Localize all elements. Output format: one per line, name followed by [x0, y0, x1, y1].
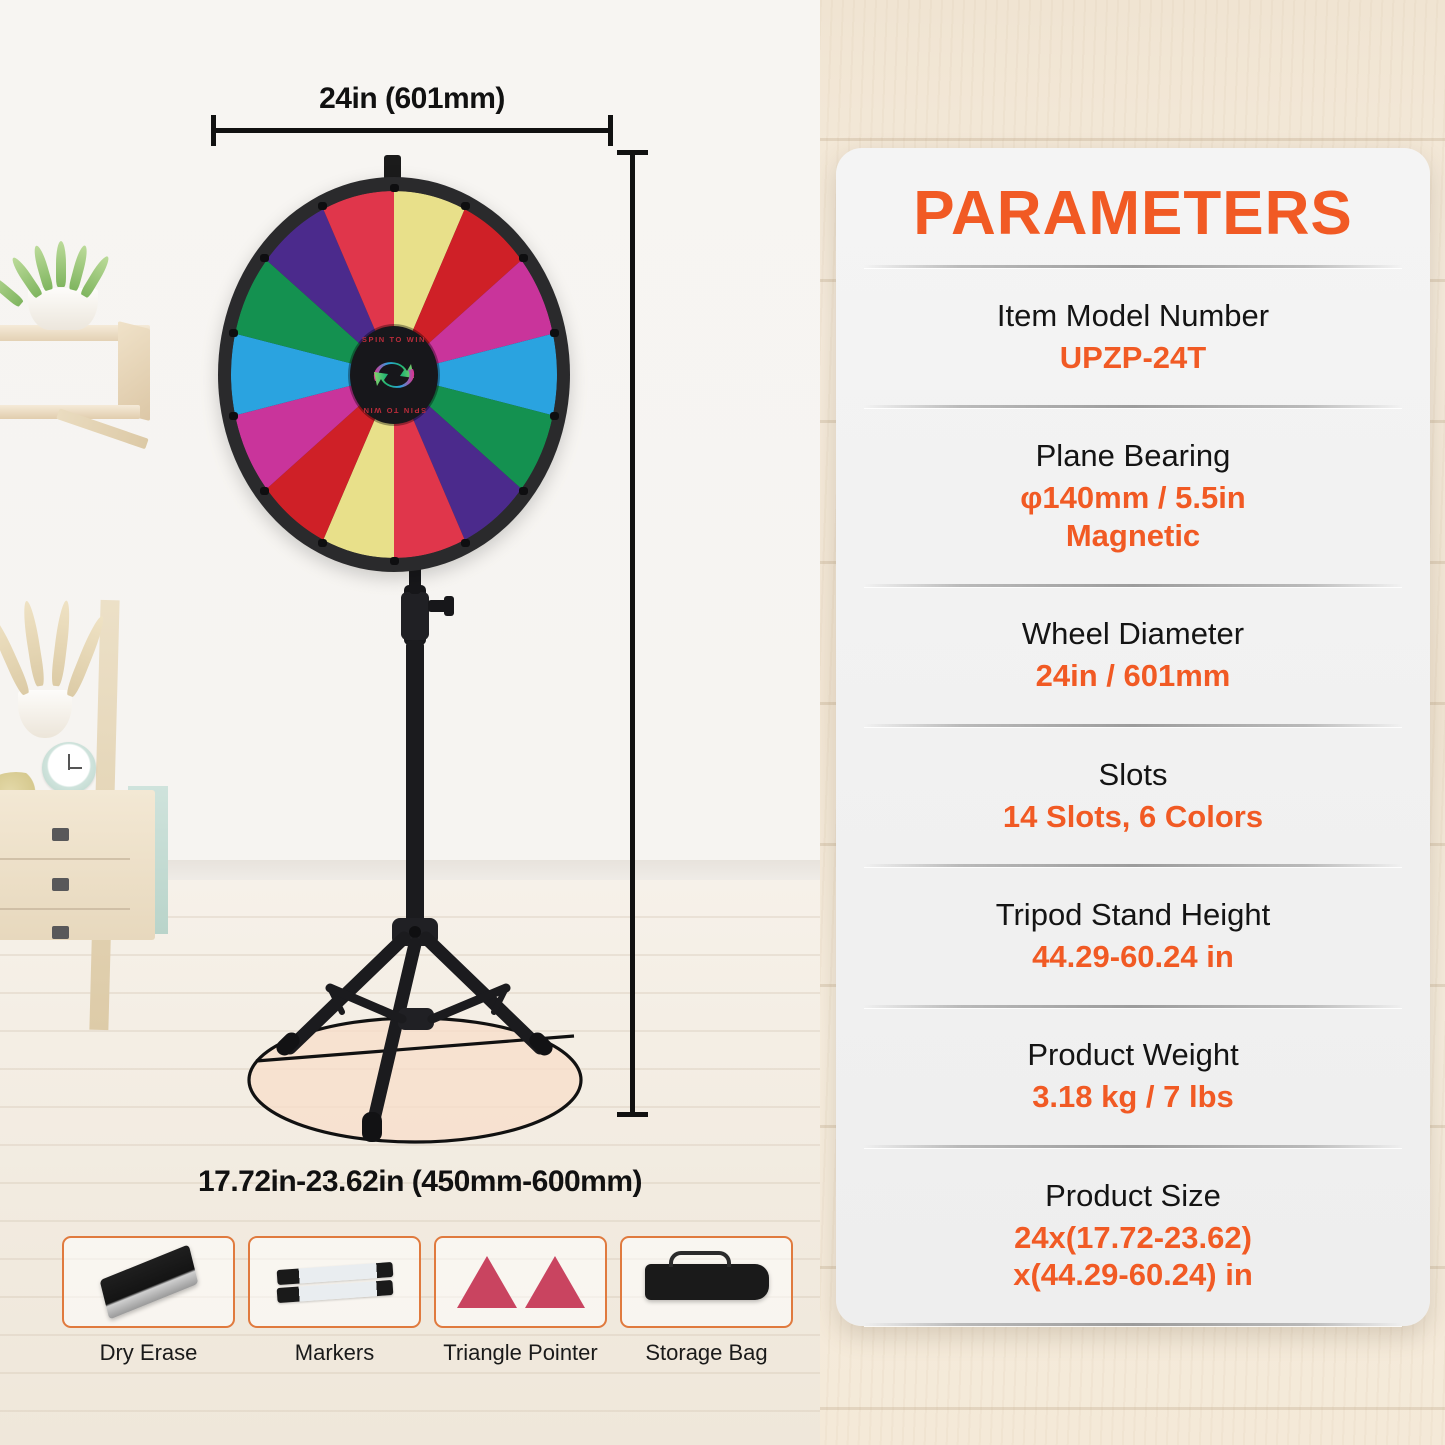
parameter-row: Product Size24x(17.72-23.62)x(44.29-60.2… [864, 1148, 1402, 1323]
dimension-cap-top [617, 150, 648, 155]
dimension-line-width-top [213, 128, 611, 133]
accessory-label: Markers [295, 1340, 374, 1366]
dresser-knob [52, 878, 69, 891]
parameter-row: Product Weight3.18 kg / 7 lbs [864, 1008, 1402, 1145]
accessory-item[interactable]: Markers [248, 1236, 421, 1396]
marker-pens-icon [277, 1263, 393, 1302]
wheel-peg [519, 487, 528, 495]
accessory-card[interactable] [434, 1236, 607, 1328]
wheel-peg [461, 202, 470, 210]
accessory-label: Triangle Pointer [443, 1340, 597, 1366]
storage-bag-icon [645, 1264, 769, 1300]
accessory-label: Storage Bag [645, 1340, 767, 1366]
dimension-label-width-top: 24in (601mm) [213, 82, 611, 116]
dresser [0, 790, 155, 940]
pampas-vase [18, 690, 72, 738]
dimension-label-height-wrap: 44.29in-60.24in (1125mm-1530mm) [655, 300, 715, 940]
parameter-value: 24in / 601mm [1036, 657, 1231, 695]
parameters-panel: PARAMETERS Item Model NumberUPZP-24TPlan… [836, 148, 1430, 1326]
parameters-title: PARAMETERS [864, 178, 1402, 249]
dresser-knob [52, 828, 69, 841]
dresser-knob [52, 926, 69, 939]
wheel-peg [318, 539, 327, 547]
wheel-peg [461, 539, 470, 547]
accessory-item[interactable]: Storage Bag [620, 1236, 793, 1396]
eraser-icon [99, 1244, 198, 1319]
parameter-value: 3.18 kg / 7 lbs [1032, 1078, 1234, 1116]
triangle-pointer-icon [453, 1256, 589, 1308]
wheel-peg [318, 202, 327, 210]
parameter-row: Tripod Stand Height44.29-60.24 in [864, 867, 1402, 1004]
pampas-stem [21, 600, 46, 687]
wheel-body: SPIN TO WIN [218, 177, 570, 572]
parameter-row: Slots14 Slots, 6 Colors [864, 727, 1402, 864]
pampas-stem [50, 600, 72, 687]
parameter-divider [864, 1323, 1402, 1326]
parameter-label: Product Size [1045, 1177, 1221, 1215]
dimension-cap-bottom [617, 1112, 648, 1117]
wheel-peg [550, 412, 559, 420]
accessory-card[interactable] [248, 1236, 421, 1328]
wheel-peg [260, 254, 269, 262]
parameter-row: Wheel Diameter24in / 601mm [864, 587, 1402, 724]
accessory-card[interactable] [620, 1236, 793, 1328]
hub-text-top: SPIN TO WIN [350, 335, 438, 344]
parameter-label: Slots [1099, 756, 1168, 794]
parameter-value: 14 Slots, 6 Colors [1003, 798, 1263, 836]
prize-wheel[interactable]: SPIN TO WIN [208, 155, 580, 575]
parameter-label: Wheel Diameter [1022, 615, 1244, 653]
wheel-peg [390, 557, 399, 565]
wheel-peg [390, 184, 399, 192]
product-photo-scene: SPIN TO WIN [0, 0, 820, 1445]
parameters-scene: PARAMETERS Item Model NumberUPZP-24TPlan… [820, 0, 1445, 1445]
parameter-value: 44.29-60.24 in [1032, 938, 1234, 976]
accessories-list: Dry Erase Markers Triangle Pointer [62, 1236, 778, 1396]
parameter-row: Item Model NumberUPZP-24T [864, 268, 1402, 405]
dimension-label-width-bottom: 17.72in-23.62in (450mm-600mm) [130, 1165, 710, 1199]
parameter-label: Product Weight [1027, 1036, 1238, 1074]
dresser-drawer-divider [0, 908, 130, 910]
desk-clock [42, 742, 96, 794]
plant-leaf [56, 241, 66, 287]
hub-text-bottom: SPIN TO WIN [350, 406, 438, 415]
parameter-label: Item Model Number [997, 297, 1269, 335]
wheel-hub: SPIN TO WIN [350, 326, 438, 424]
spin-arrows-icon [367, 351, 421, 399]
accessory-item[interactable]: Dry Erase [62, 1236, 235, 1396]
wheel-peg [550, 329, 559, 337]
wheel-peg [519, 254, 528, 262]
accessory-item[interactable]: Triangle Pointer [434, 1236, 607, 1396]
wheel-peg [229, 412, 238, 420]
accessory-card[interactable] [62, 1236, 235, 1328]
parameter-label: Tripod Stand Height [996, 896, 1271, 934]
parameter-row: Plane Bearingφ140mm / 5.5inMagnetic [864, 408, 1402, 583]
wheel-peg [260, 487, 269, 495]
dresser-drawer-divider [0, 858, 130, 860]
dimension-cap-right [608, 115, 613, 146]
parameter-value: UPZP-24T [1060, 339, 1206, 377]
dimension-cap-left [211, 115, 216, 146]
parameter-label: Plane Bearing [1036, 437, 1231, 475]
parameter-value: 24x(17.72-23.62)x(44.29-60.24) in [1013, 1219, 1253, 1295]
accessory-label: Dry Erase [100, 1340, 198, 1366]
parameter-value: φ140mm / 5.5inMagnetic [1020, 479, 1246, 555]
dimension-line-height [630, 152, 635, 1115]
wheel-peg [229, 329, 238, 337]
